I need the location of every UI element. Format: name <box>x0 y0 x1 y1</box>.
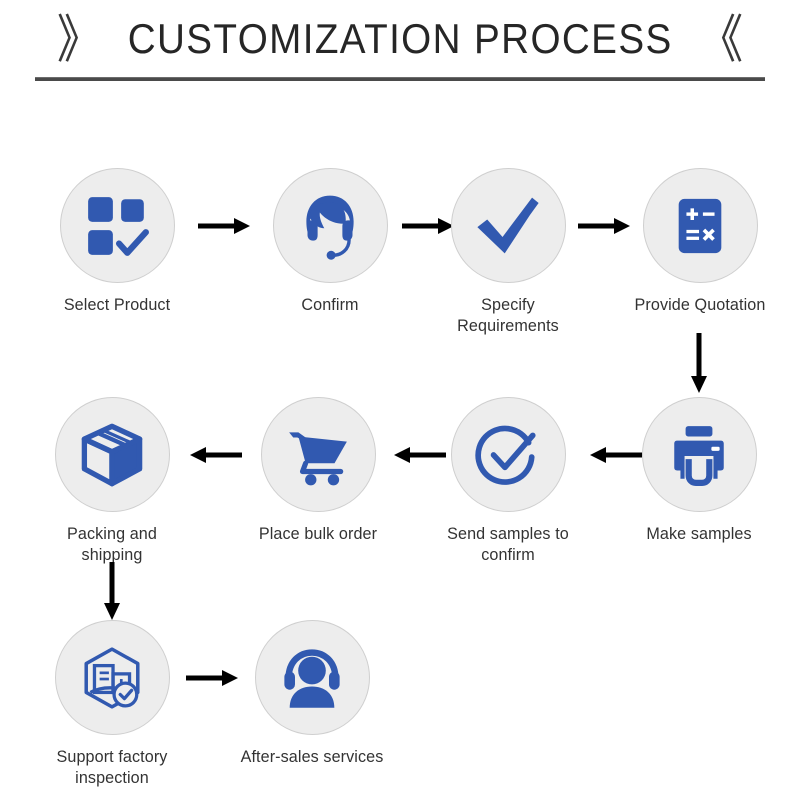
step-icon-circle <box>451 168 566 283</box>
step-label: Select Product <box>41 294 193 315</box>
printer-icon <box>666 422 732 488</box>
step-packing-and-shipping[interactable]: Packing and shipping <box>32 397 192 565</box>
step-icon-circle <box>60 168 175 283</box>
title-row: 》 CUSTOMIZATION PROCESS 《 <box>0 10 800 68</box>
calculator-icon <box>669 195 731 257</box>
step-icon-circle <box>643 168 758 283</box>
chevron-left-decoration: 》 <box>57 13 102 65</box>
step-send-samples-to-confirm[interactable]: Send samples to confirm <box>428 397 588 565</box>
step-label: Send samples to confirm <box>432 523 584 565</box>
step-label: Make samples <box>623 523 775 544</box>
step-support-factory-inspection[interactable]: Support factory inspection <box>32 620 192 788</box>
step-place-bulk-order[interactable]: Place bulk order <box>238 397 398 544</box>
step-label: Provide Quotation <box>624 294 776 315</box>
step-label: Packing and shipping <box>36 523 188 565</box>
step-select-product[interactable]: Select Product <box>37 168 197 315</box>
connector-arrow-left <box>186 445 242 465</box>
chevron-right-decoration: 《 <box>698 13 743 65</box>
circle-check-icon <box>475 422 541 488</box>
step-icon-circle <box>55 397 170 512</box>
connector-arrow-right <box>186 668 238 688</box>
step-confirm[interactable]: Confirm <box>250 168 410 315</box>
customization-process-infographic: 》 CUSTOMIZATION PROCESS 《 Select Product <box>0 0 800 800</box>
step-label: Specify Requirements <box>432 294 584 336</box>
step-icon-circle <box>273 168 388 283</box>
step-make-samples[interactable]: Make samples <box>619 397 779 544</box>
page-header: 》 CUSTOMIZATION PROCESS 《 <box>0 0 800 100</box>
step-label: Support factory inspection <box>36 746 188 788</box>
step-after-sales-services[interactable]: After-sales services <box>232 620 392 767</box>
step-provide-quotation[interactable]: Provide Quotation <box>620 168 780 315</box>
headset-person-icon <box>278 644 346 712</box>
support-agent-icon <box>294 190 366 262</box>
step-label: After-sales services <box>236 746 388 767</box>
factory-inspection-icon <box>79 645 145 711</box>
connector-arrow-right <box>198 216 250 236</box>
step-icon-circle <box>55 620 170 735</box>
step-specify-requirements[interactable]: Specify Requirements <box>428 168 588 336</box>
step-icon-circle <box>255 620 370 735</box>
step-label: Place bulk order <box>242 523 394 544</box>
header-divider <box>35 77 765 81</box>
package-box-icon <box>78 421 146 489</box>
step-label: Confirm <box>254 294 406 315</box>
grid-check-icon <box>84 193 150 259</box>
step-icon-circle <box>261 397 376 512</box>
step-icon-circle <box>642 397 757 512</box>
connector-arrow-down <box>101 562 123 620</box>
shopping-cart-icon <box>285 422 351 488</box>
connector-arrow-down <box>688 333 710 393</box>
step-icon-circle <box>451 397 566 512</box>
checkmark-icon <box>473 191 543 261</box>
page-title: CUSTOMIZATION PROCESS <box>128 15 673 63</box>
